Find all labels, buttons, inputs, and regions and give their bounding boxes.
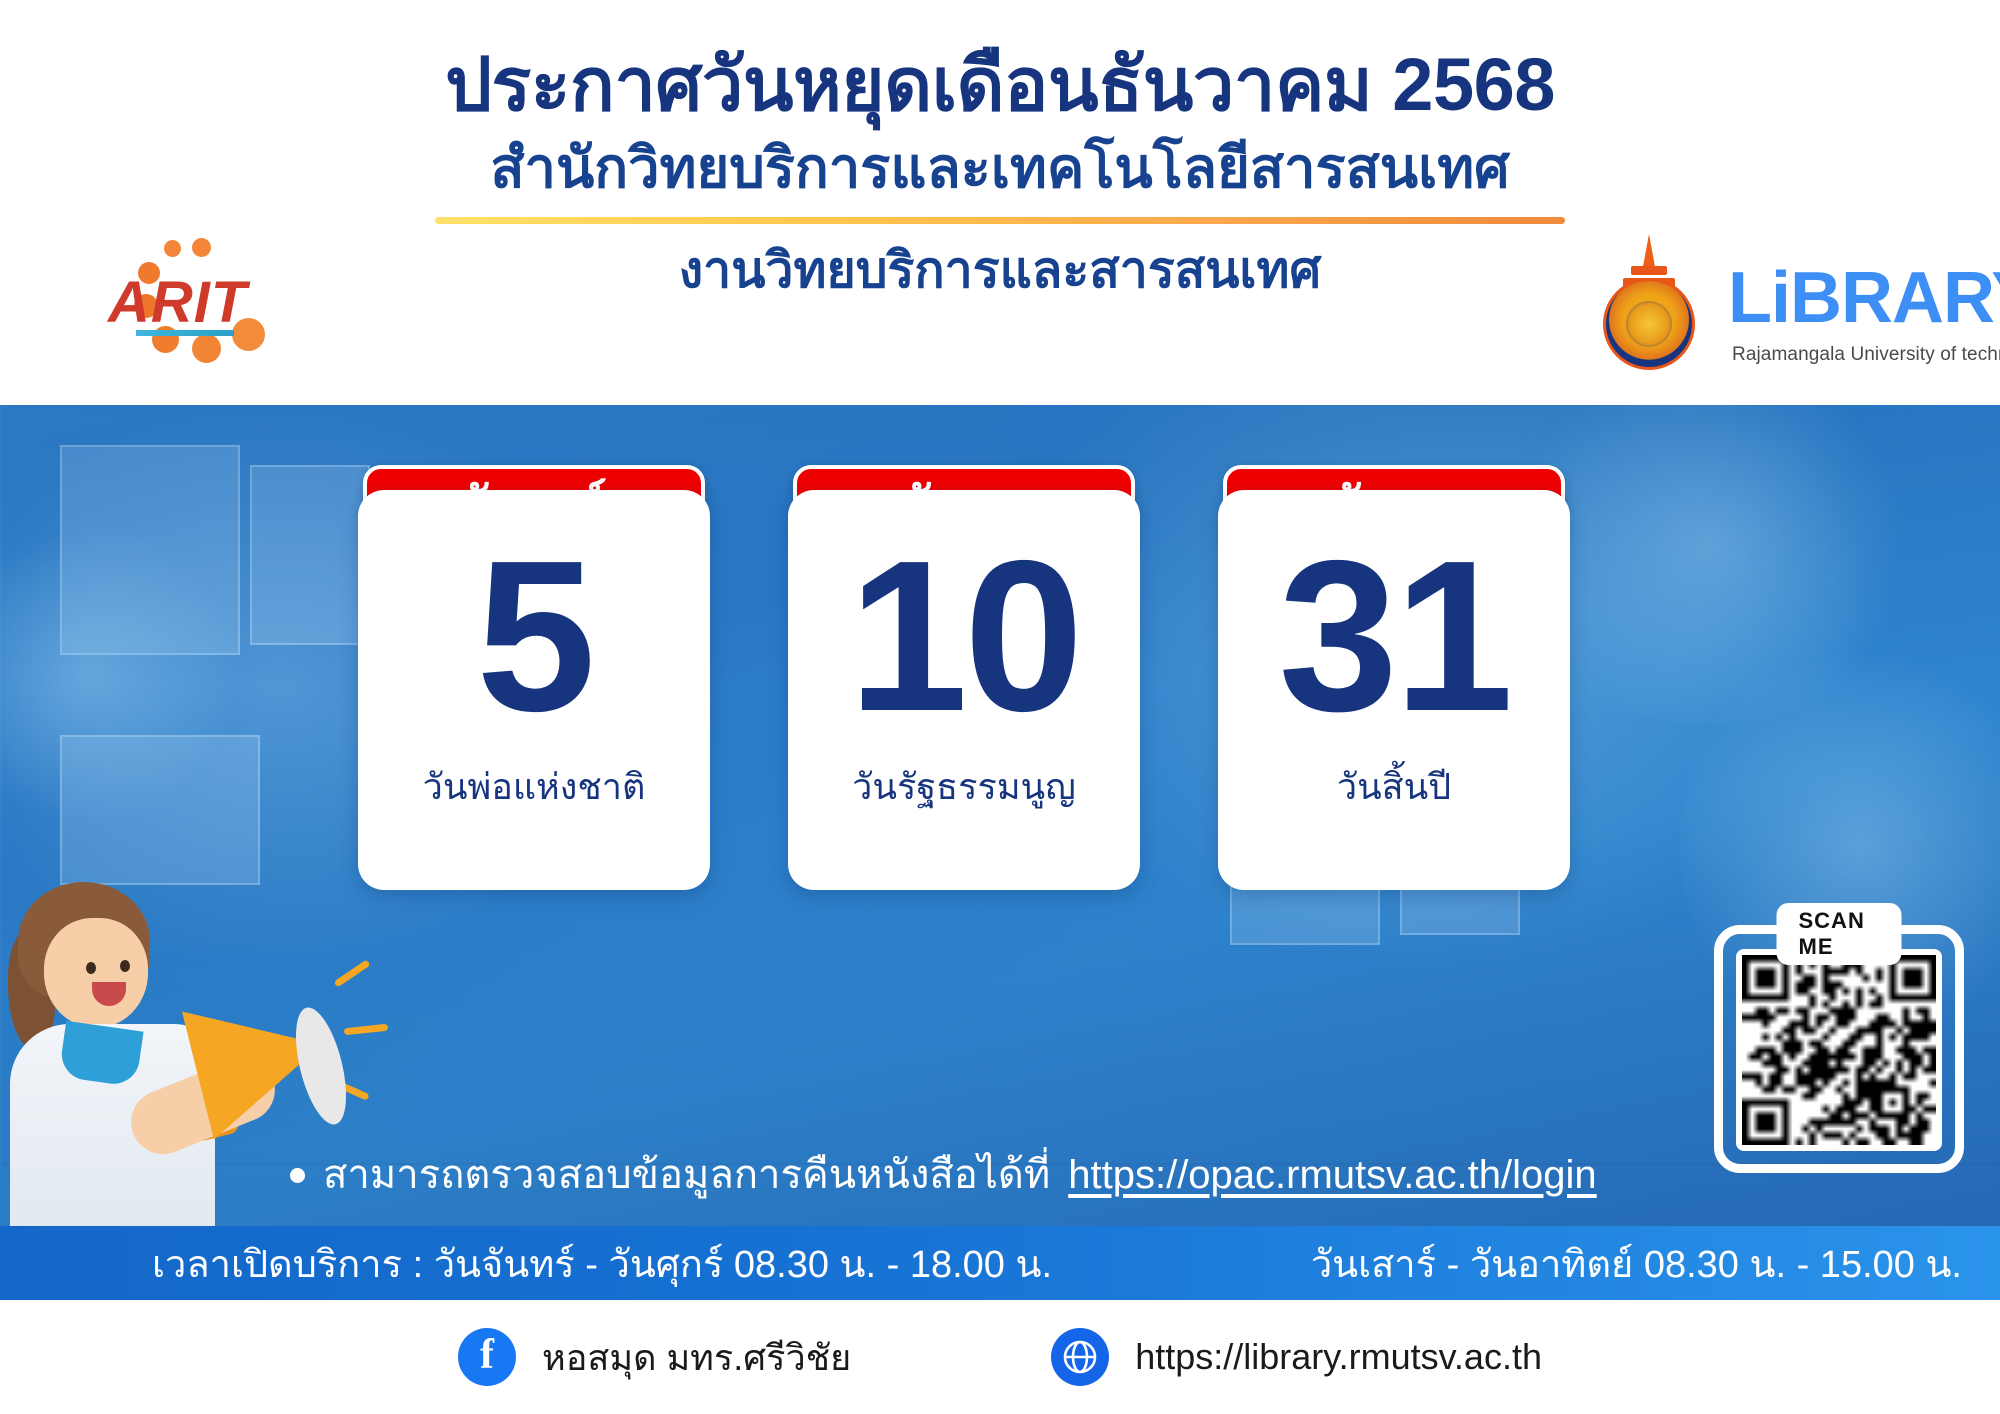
rmutsv-crest-icon xyxy=(1590,232,1708,372)
arit-underline xyxy=(136,330,234,336)
header-subtitle-2: งานวิทยบริการและสารสนเทศ xyxy=(300,242,1700,300)
poster-main: วันศุกร์ วันพุธ วันพุธ 5 วันพ่อแห่งชาติ … xyxy=(0,405,2000,1414)
woman-eye xyxy=(86,962,96,974)
header-text-block: ประกาศวันหยุดเดือนธันวาคม 2568 สำนักวิทย… xyxy=(300,44,1700,299)
notice-text: สามารถตรวจสอบข้อมูลการคืนหนังสือได้ที่ xyxy=(323,1151,1050,1199)
holiday-name: วันรัฐธรรมนูญ xyxy=(852,767,1076,807)
arit-dot-icon xyxy=(192,238,211,257)
header-subtitle: สำนักวิทยบริการและเทคโนโลยีสารสนเทศ xyxy=(300,135,1700,201)
date-card-row: 5 วันพ่อแห่งชาติ 10 วันรัฐธรรมนูญ 31 วัน… xyxy=(355,490,1605,910)
website-label: https://library.rmutsv.ac.th xyxy=(1135,1336,1542,1378)
library-wordmark: LiBRARY xyxy=(1728,262,2000,334)
website-item[interactable]: https://library.rmutsv.ac.th xyxy=(1051,1328,1542,1386)
facebook-item[interactable]: f หอสมุด มทร.ศรีวิชัย xyxy=(458,1328,851,1386)
date-card: 31 วันสิ้นปี xyxy=(1218,490,1570,890)
qr-canvas xyxy=(1742,955,1936,1145)
scan-me-label: SCAN ME xyxy=(1777,903,1902,965)
date-card: 5 วันพ่อแห่งชาติ xyxy=(358,490,710,890)
facebook-icon: f xyxy=(458,1328,516,1386)
poster-root: ประกาศวันหยุดเดือนธันวาคม 2568 สำนักวิทย… xyxy=(0,0,2000,1414)
opac-link[interactable]: https://opac.rmutsv.ac.th/login xyxy=(1068,1153,1596,1198)
arit-dot-icon xyxy=(164,240,181,257)
library-logo: LiBRARY Rajamangala University of techno… xyxy=(1590,232,1960,372)
qr-code-image[interactable] xyxy=(1736,949,1942,1151)
arit-dot-icon xyxy=(192,334,221,363)
crest-seal xyxy=(1603,278,1695,370)
woman-face xyxy=(44,918,148,1028)
crest-seal-inner xyxy=(1626,301,1672,347)
date-number: 10 xyxy=(848,528,1079,743)
arit-logo: ARIT xyxy=(52,238,267,368)
crest-tier xyxy=(1631,266,1667,275)
page-title: ประกาศวันหยุดเดือนธันวาคม 2568 xyxy=(300,44,1700,127)
holiday-name: วันพ่อแห่งชาติ xyxy=(423,767,646,807)
globe-icon xyxy=(1051,1328,1109,1386)
poster-header: ประกาศวันหยุดเดือนธันวาคม 2568 สำนักวิทย… xyxy=(0,0,2000,405)
weekend-hours: วันเสาร์ - วันอาทิตย์ 08.30 น. - 15.00 น… xyxy=(1311,1233,1962,1294)
woman-eye xyxy=(120,960,130,972)
poster-footer: f หอสมุด มทร.ศรีวิชัย https://library.rm… xyxy=(0,1300,2000,1414)
facebook-label: หอสมุด มทร.ศรีวิชัย xyxy=(542,1329,851,1386)
notice-row: สามารถตรวจสอบข้อมูลการคืนหนังสือได้ที่ h… xyxy=(290,1145,1690,1205)
qr-block: SCAN ME xyxy=(1714,903,1964,1173)
service-hours-bar: เวลาเปิดบริการ : วันจันทร์ - วันศุกร์ 08… xyxy=(0,1226,2000,1300)
date-number: 31 xyxy=(1278,528,1509,743)
weekday-hours: เวลาเปิดบริการ : วันจันทร์ - วันศุกร์ 08… xyxy=(152,1233,1052,1294)
header-divider xyxy=(435,217,1565,224)
library-tagline: Rajamangala University of technology Sri… xyxy=(1732,344,2000,366)
arit-wordmark: ARIT xyxy=(108,274,247,332)
holiday-name: วันสิ้นปี xyxy=(1337,767,1451,807)
bullet-icon xyxy=(290,1168,305,1183)
date-number: 5 xyxy=(476,528,592,743)
date-card: 10 วันรัฐธรรมนูญ xyxy=(788,490,1140,890)
